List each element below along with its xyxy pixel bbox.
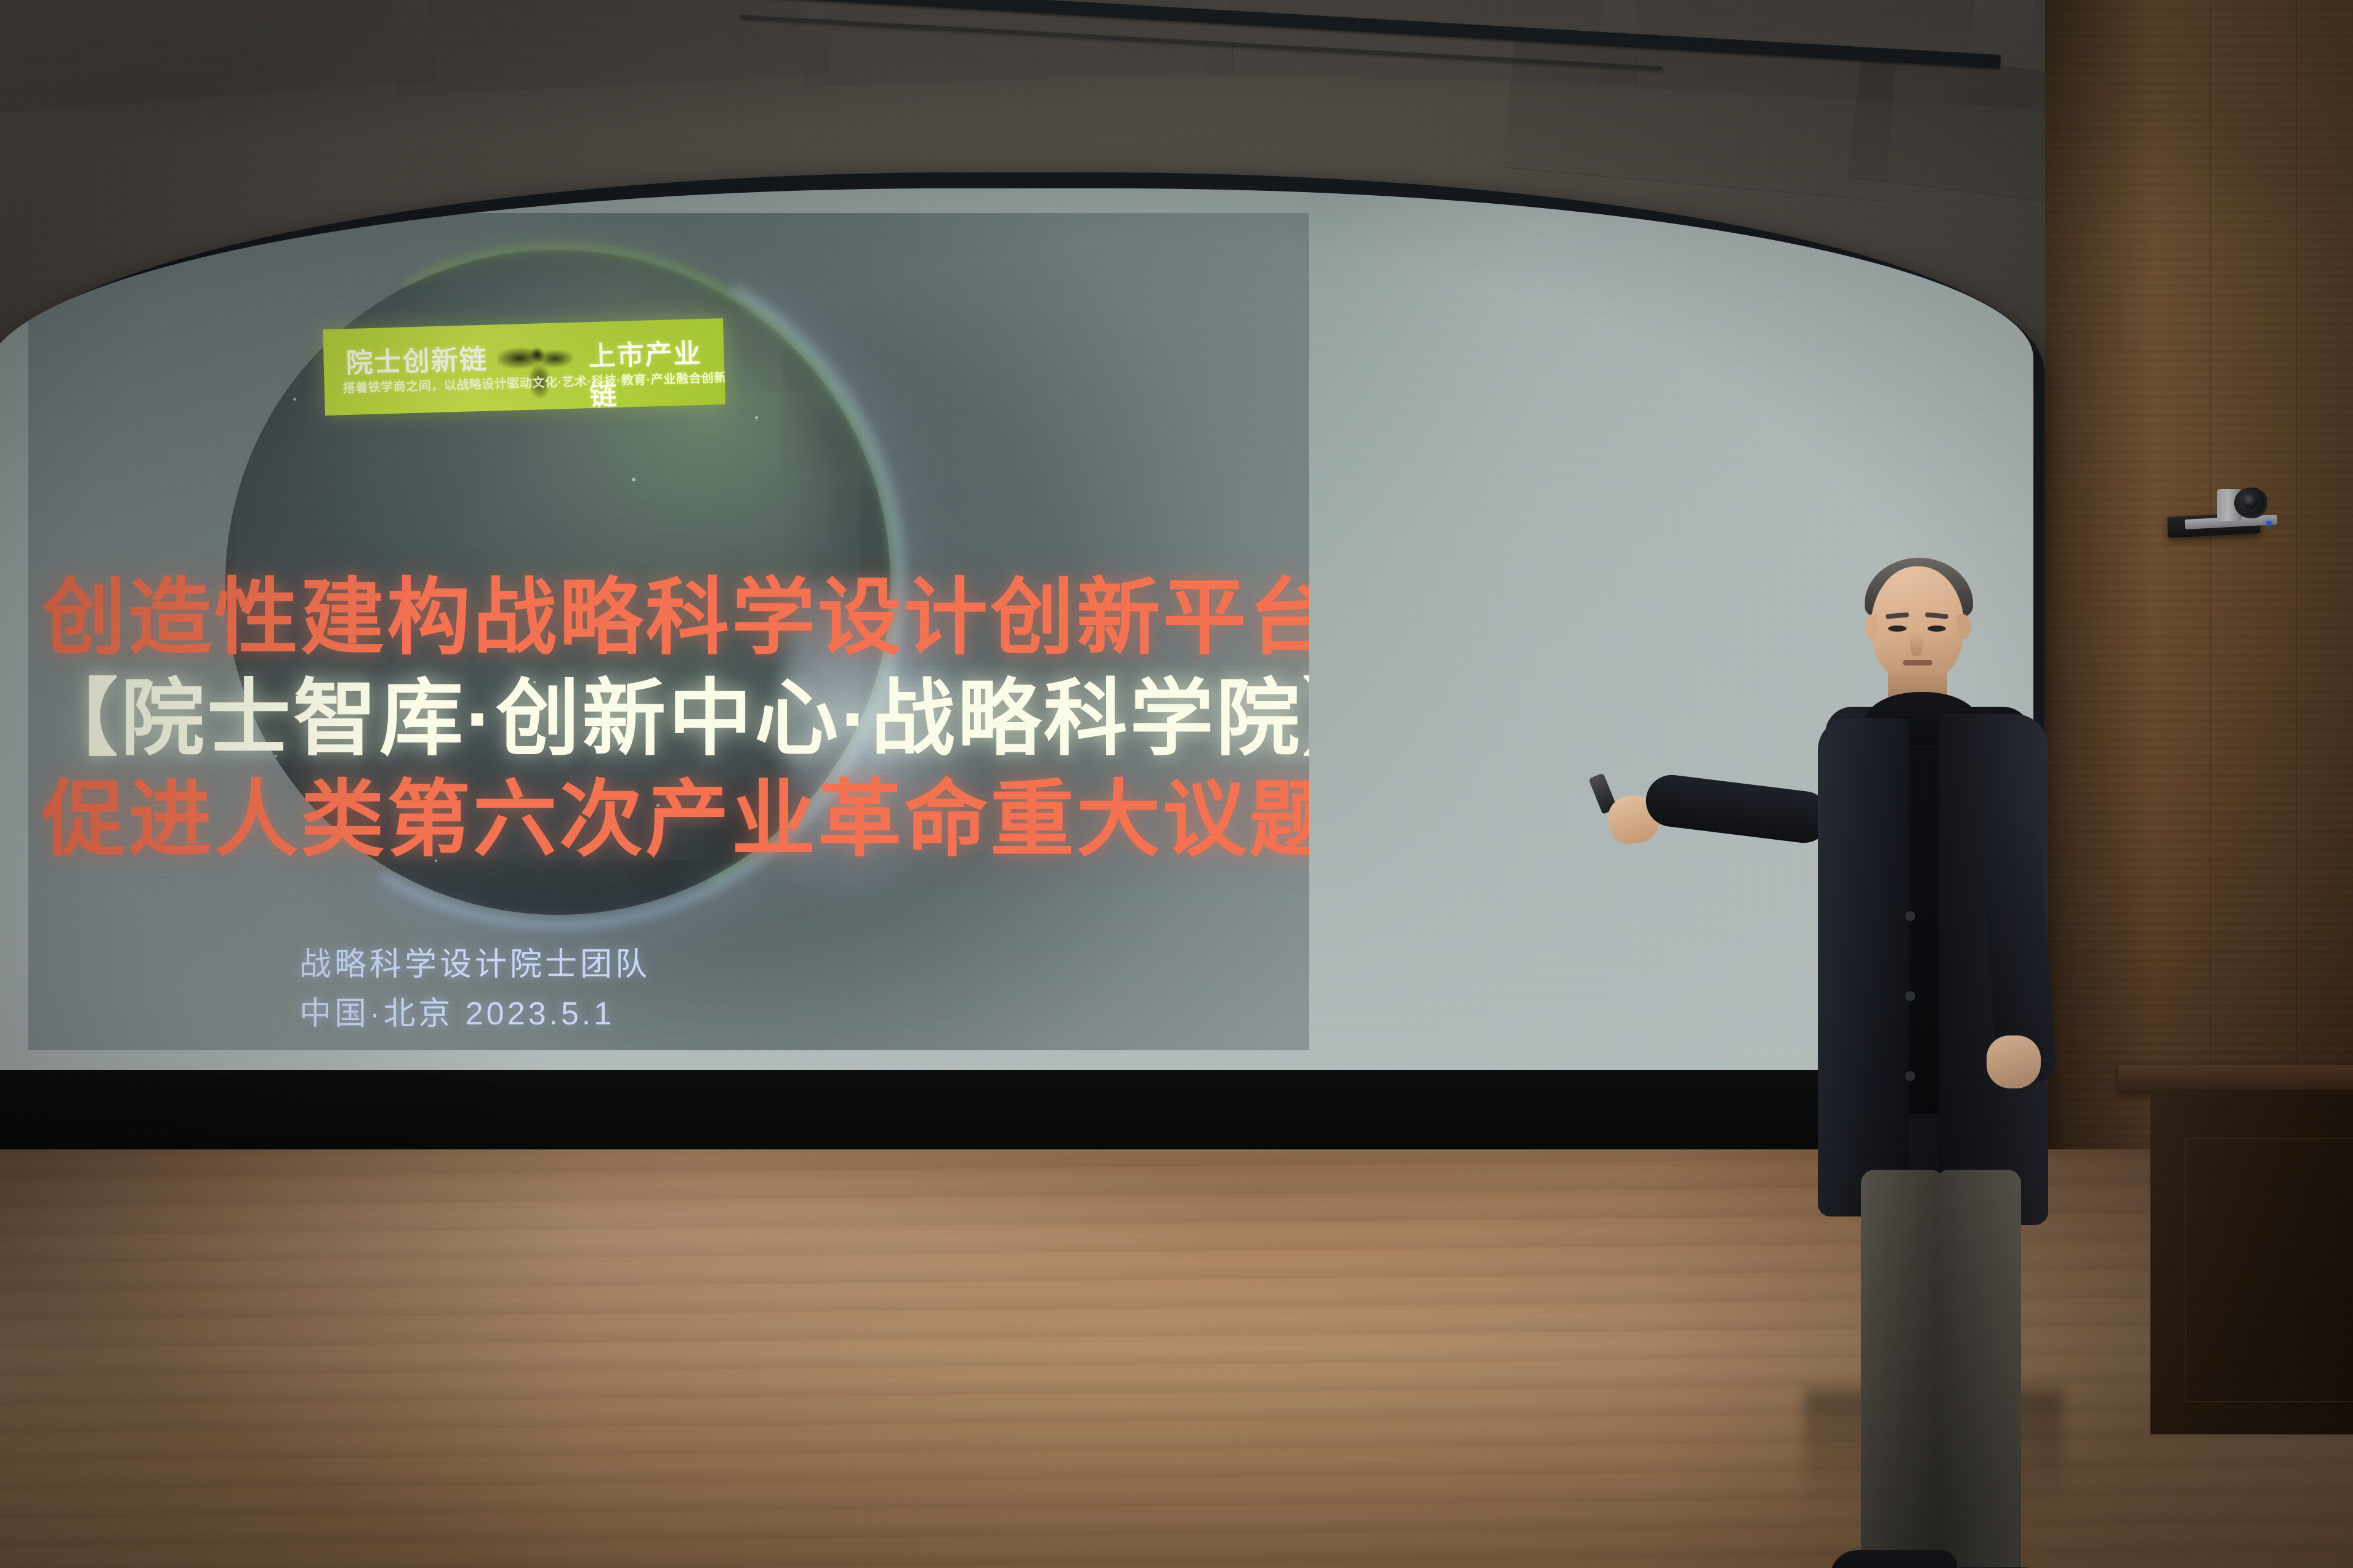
presenter-head <box>1871 566 1964 683</box>
lecture-hall-photo: 院士创新链 上市产业链 搭着铁学商之间，以战略设计驱动文化·艺术·科技·教育·产… <box>0 0 2353 1568</box>
projected-slide: 院士创新链 上市产业链 搭着铁学商之间，以战略设计驱动文化·艺术·科技·教育·产… <box>28 213 1309 1050</box>
camera-lens-icon <box>2243 494 2258 509</box>
presenter-ear-right <box>1957 614 1971 639</box>
jacket-button <box>1905 991 1915 1001</box>
lectern <box>2118 1065 2353 1447</box>
slide-footer-line-2: 中国·北京 2023.5.1 <box>299 987 615 1034</box>
banner-left-text: 院士创新链 <box>345 337 488 380</box>
lectern-panel <box>2185 1138 2353 1402</box>
slide-footer-line-1: 战略科学设计院士团队 <box>299 938 650 984</box>
screen-surface: 院士创新链 上市产业链 搭着铁学商之间，以战略设计驱动文化·艺术·科技·教育·产… <box>0 188 2033 1084</box>
presenter-eye-left <box>1888 625 1907 632</box>
slide-headline-line-3: 促进人类第六次产业革命重大议题 <box>28 777 1309 862</box>
banner-emblem-icon <box>496 329 578 405</box>
jacket-button <box>1905 911 1915 921</box>
presenter-eye-right <box>1927 625 1946 632</box>
presenter-trouser-left <box>1861 1170 1942 1568</box>
presenter-nose <box>1910 633 1923 656</box>
curved-projection-screen: 院士创新链 上市产业链 搭着铁学商之间，以战略设计驱动文化·艺术·科技·教育·产… <box>0 172 2044 1176</box>
slide-banner: 院士创新链 上市产业链 搭着铁学商之间，以战略设计驱动文化·艺术·科技·教育·产… <box>323 318 725 416</box>
presenter-ear-left <box>1865 614 1878 639</box>
slide-headline-line-2: 【院士智库·创新中心·战略科学院】 <box>28 676 1309 762</box>
slide-headline-line-1: 创造性建构战略科学设计创新平台 <box>28 575 1309 661</box>
presenter-mouth <box>1903 660 1932 665</box>
presenter-jacket-left-panel <box>1818 718 1909 1216</box>
ptz-conference-camera <box>2168 486 2291 554</box>
presenter <box>1804 566 2063 1568</box>
presenter-trouser-right <box>1937 1170 2021 1568</box>
camera-status-led <box>2266 521 2272 525</box>
presenter-right-hand <box>1987 1035 2041 1088</box>
jacket-button <box>1905 1071 1915 1081</box>
lectern-top <box>2118 1065 2353 1092</box>
presenter-shoe-left <box>1830 1550 1957 1568</box>
